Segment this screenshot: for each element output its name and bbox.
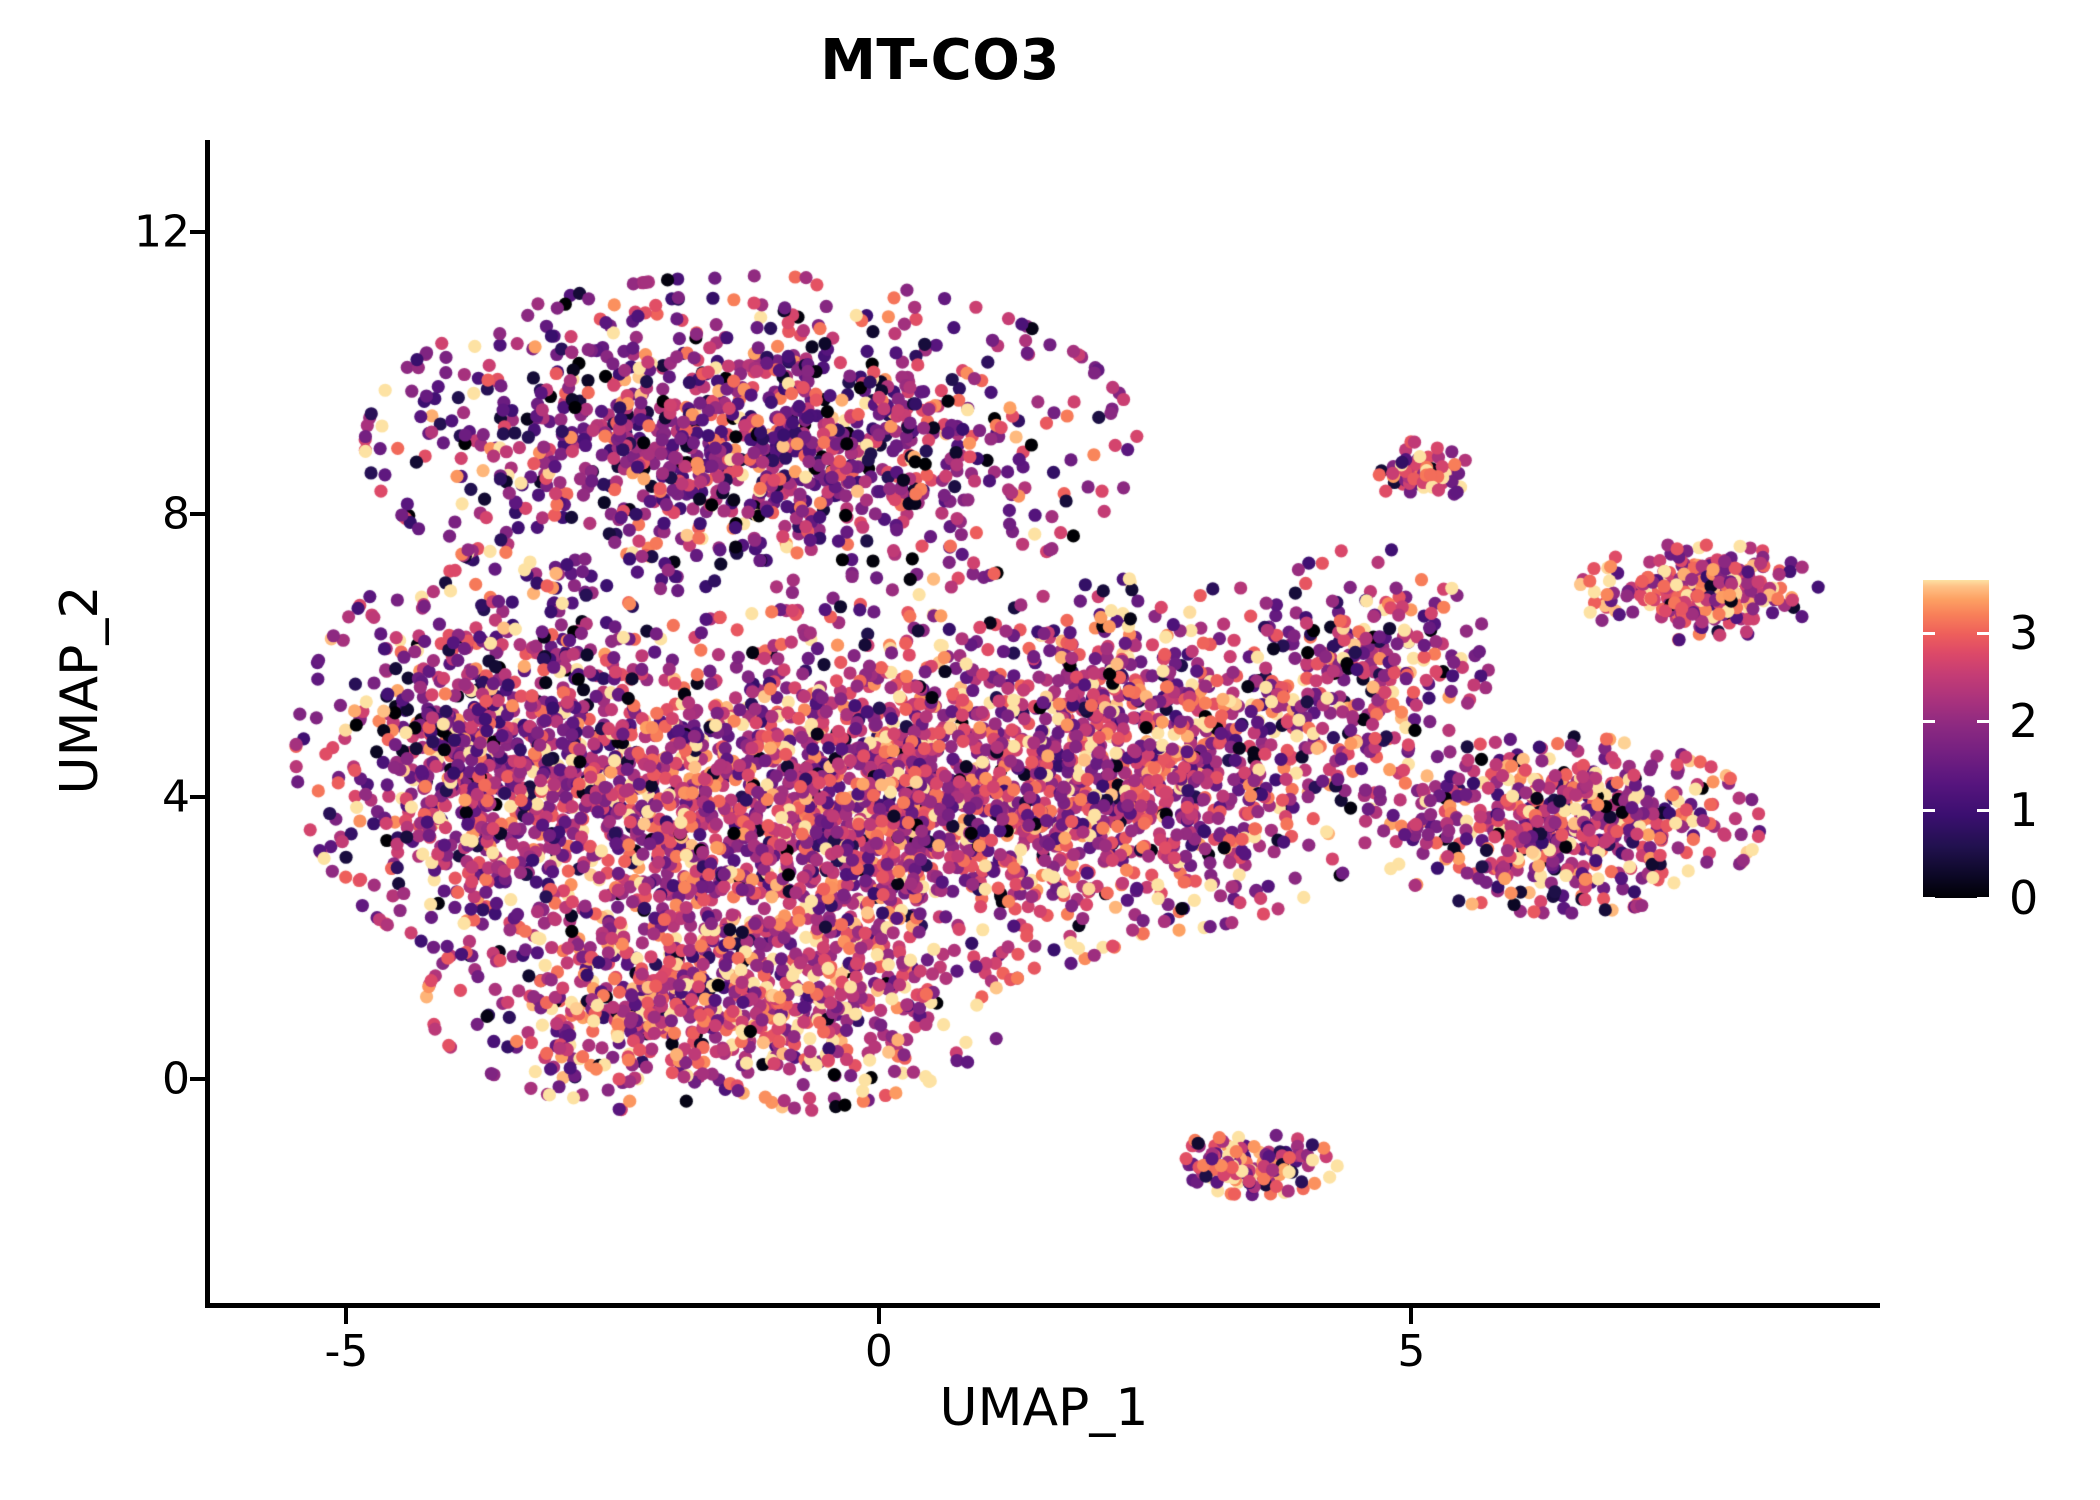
x-tick-mark	[877, 1308, 881, 1324]
colorbar-tick-label: 2	[2009, 694, 2038, 748]
x-tick-mark	[344, 1308, 348, 1324]
x-axis-spine	[205, 1303, 1880, 1308]
y-tick-label: 0	[162, 1054, 190, 1105]
x-axis-label: UMAP_1	[208, 1378, 1880, 1438]
colorbar-tick-label: 0	[2009, 871, 2038, 925]
colorbar-tick-mark	[1977, 809, 1989, 812]
colorbar-tick-mark	[1977, 897, 1989, 900]
y-tick-mark	[190, 795, 206, 799]
x-tick-label: 0	[865, 1326, 893, 1377]
page-title: MT-CO3	[0, 28, 1880, 93]
x-tick-mark	[1409, 1308, 1413, 1324]
y-tick-label: 4	[162, 771, 190, 822]
colorbar-tick-mark	[1923, 720, 1935, 723]
colorbar: 0123	[1923, 580, 2083, 900]
scatter-canvas	[208, 140, 1880, 1305]
colorbar-tick-mark	[1923, 897, 1935, 900]
colorbar-tick-mark	[1977, 632, 1989, 635]
colorbar-tick-mark	[1923, 632, 1935, 635]
y-axis-spine	[205, 140, 210, 1308]
y-tick-label: 12	[134, 206, 190, 257]
y-axis-label: UMAP_2	[50, 310, 110, 1070]
y-tick-mark	[190, 1077, 206, 1081]
y-tick-label: 8	[162, 489, 190, 540]
colorbar-tick-label: 1	[2009, 783, 2038, 837]
colorbar-tick-label: 3	[2009, 606, 2038, 660]
colorbar-gradient	[1923, 580, 1989, 898]
x-tick-label: 5	[1397, 1326, 1425, 1377]
scatter-plot-area	[208, 140, 1880, 1305]
x-tick-label: -5	[325, 1326, 369, 1377]
y-tick-mark	[190, 512, 206, 516]
colorbar-tick-mark	[1977, 720, 1989, 723]
figure-root: MT-CO3 -50504812 UMAP_1 UMAP_2 0123	[0, 0, 2100, 1500]
colorbar-tick-mark	[1923, 809, 1935, 812]
y-tick-mark	[190, 230, 206, 234]
